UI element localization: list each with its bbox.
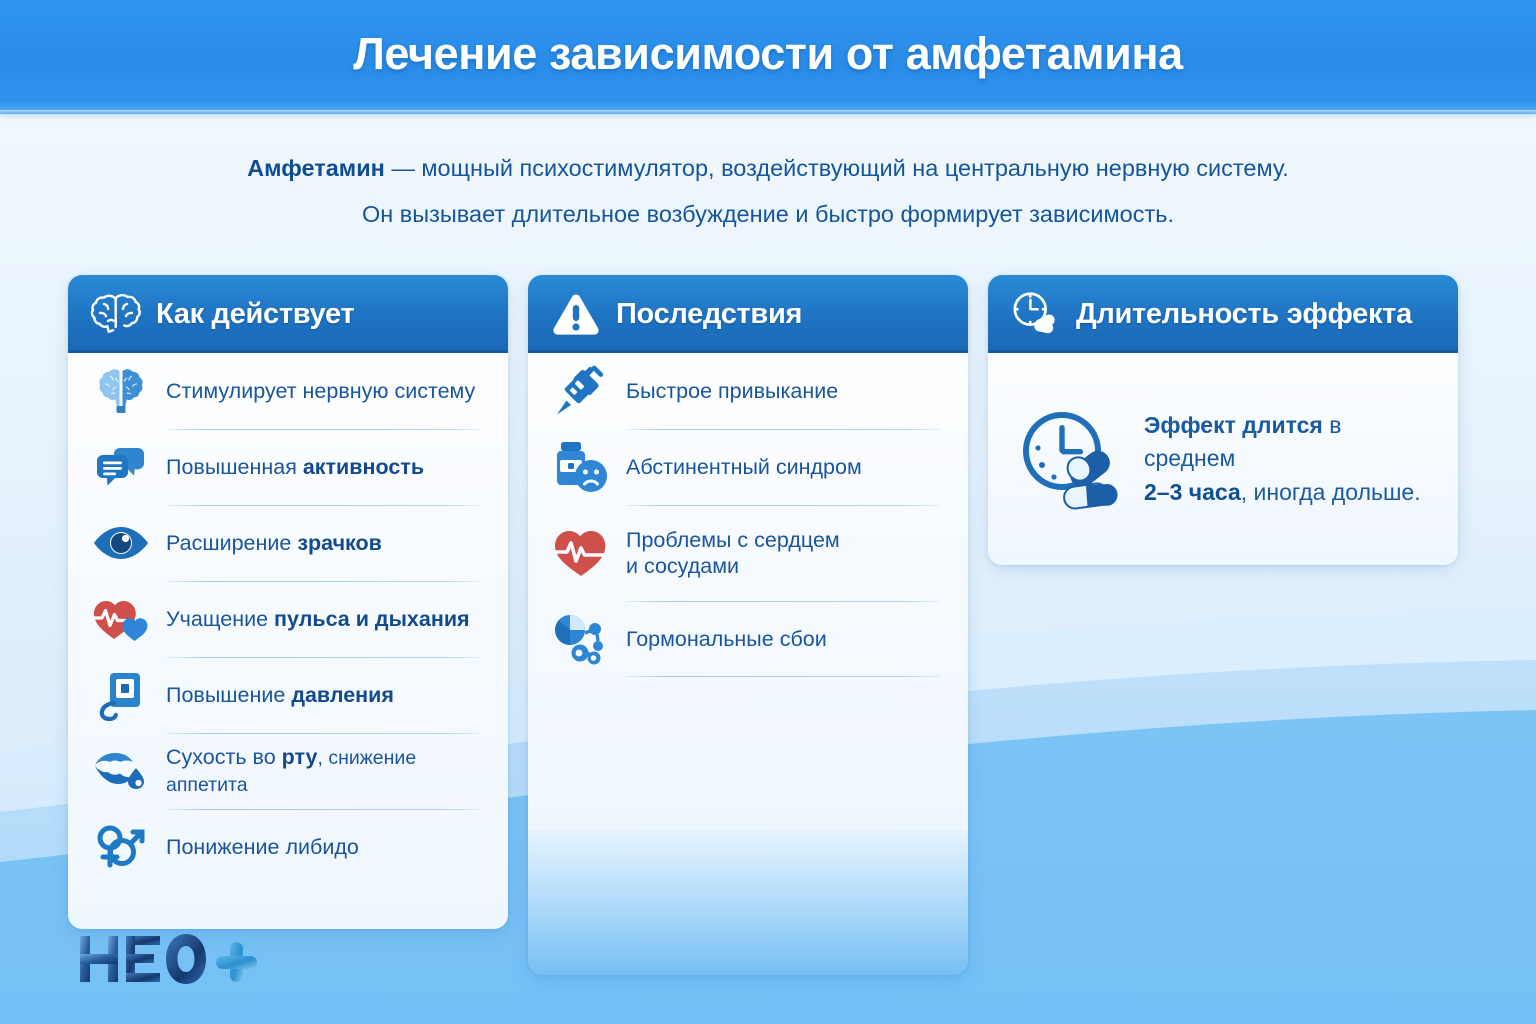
intro-term: Амфетамин [247,155,385,181]
hearts-icon [88,588,154,650]
speech-bubbles-icon [88,436,154,498]
card-consequences-header: Последствия [528,275,968,353]
hormones-molecule-icon [548,608,614,670]
intro-paragraph: Амфетамин — мощный психостимулятор, возд… [0,152,1536,232]
list-item: Понижение либидо [88,809,488,885]
syringe-icon [548,360,614,422]
brain-icon [90,288,142,340]
intro-line-1: Амфетамин — мощный психостимулятор, возд… [0,152,1536,185]
page-header: Лечение зависимости от амфетамина [0,0,1536,114]
list-item-label: Повышенная активность [166,454,424,480]
card-duration-body: Эффект длится в среднем 2–3 часа, иногда… [988,353,1458,565]
card-how-it-works: Как действует Стимулирует не [68,275,508,929]
intro-line-1-rest: — мощный психостимулятор, воздействующий… [385,155,1289,181]
list-item: Повышение давления [88,657,488,733]
list-item-label: Проблемы с сердцеми сосудами [626,527,840,579]
list-item-label: Абстинентный синдром [626,454,862,480]
neo-plus-logo [78,930,268,992]
gender-symbols-icon [88,816,154,878]
list-item-label: Сухость во рту, снижение аппетита [166,744,488,798]
warning-triangle-icon [550,288,602,340]
lips-drop-icon [88,740,154,802]
pill-bottle-sad-face-icon [548,436,614,498]
list-item: Сухость во рту, снижение аппетита [88,733,488,809]
list-item: Быстрое привыкание [548,353,948,429]
list-item-label: Повышение давления [166,682,394,708]
list-item-label: Понижение либидо [166,834,359,860]
card-consequences: Последствия [528,275,968,975]
card-consequences-fade [528,830,968,975]
list-item: Повышенная активность [88,429,488,505]
card-how-body: Стимулирует нервную систему [68,353,508,929]
list-item: Учащение пульса и дыхания [88,581,488,657]
card-how-header: Как действует [68,275,508,353]
list-item: Расширение зрачков [88,505,488,581]
list-item: Стимулирует нервную систему [88,353,488,429]
card-duration-title: Длительность эффекта [1076,298,1412,331]
page-title: Лечение зависимости от амфетамина [0,28,1536,80]
card-consequences-body: Быстрое привыкание [528,353,968,830]
intro-line-2: Он вызывает длительное возбуждение и быс… [0,198,1536,231]
infographic-root: Лечение зависимости от амфетамина Амфета… [0,0,1536,1024]
card-consequences-title: Последствия [616,298,802,331]
clock-pills-icon [1010,288,1062,340]
list-item: Проблемы с сердцеми сосудами [548,505,948,601]
card-duration: Длительность эффекта [988,275,1458,565]
card-duration-header: Длительность эффекта [988,275,1458,353]
card-duration-text: Эффект длится в среднем 2–3 часа, иногда… [1144,409,1432,508]
list-item: Гормональные сбои [548,601,948,677]
list-item-label: Учащение пульса и дыхания [166,606,470,632]
heart-pulse-icon [548,522,614,584]
list-item-label: Расширение зрачков [166,530,382,556]
brain-icon [88,360,154,422]
list-item-label: Стимулирует нервную систему [166,378,475,404]
card-how-title: Как действует [156,298,354,331]
list-item: Абстинентный синдром [548,429,948,505]
eye-icon [88,512,154,574]
list-item-label: Гормональные сбои [626,626,827,652]
list-item-label: Быстрое привыкание [626,378,838,404]
clock-pills-large-icon [1014,403,1126,515]
blood-pressure-monitor-icon [88,664,154,726]
